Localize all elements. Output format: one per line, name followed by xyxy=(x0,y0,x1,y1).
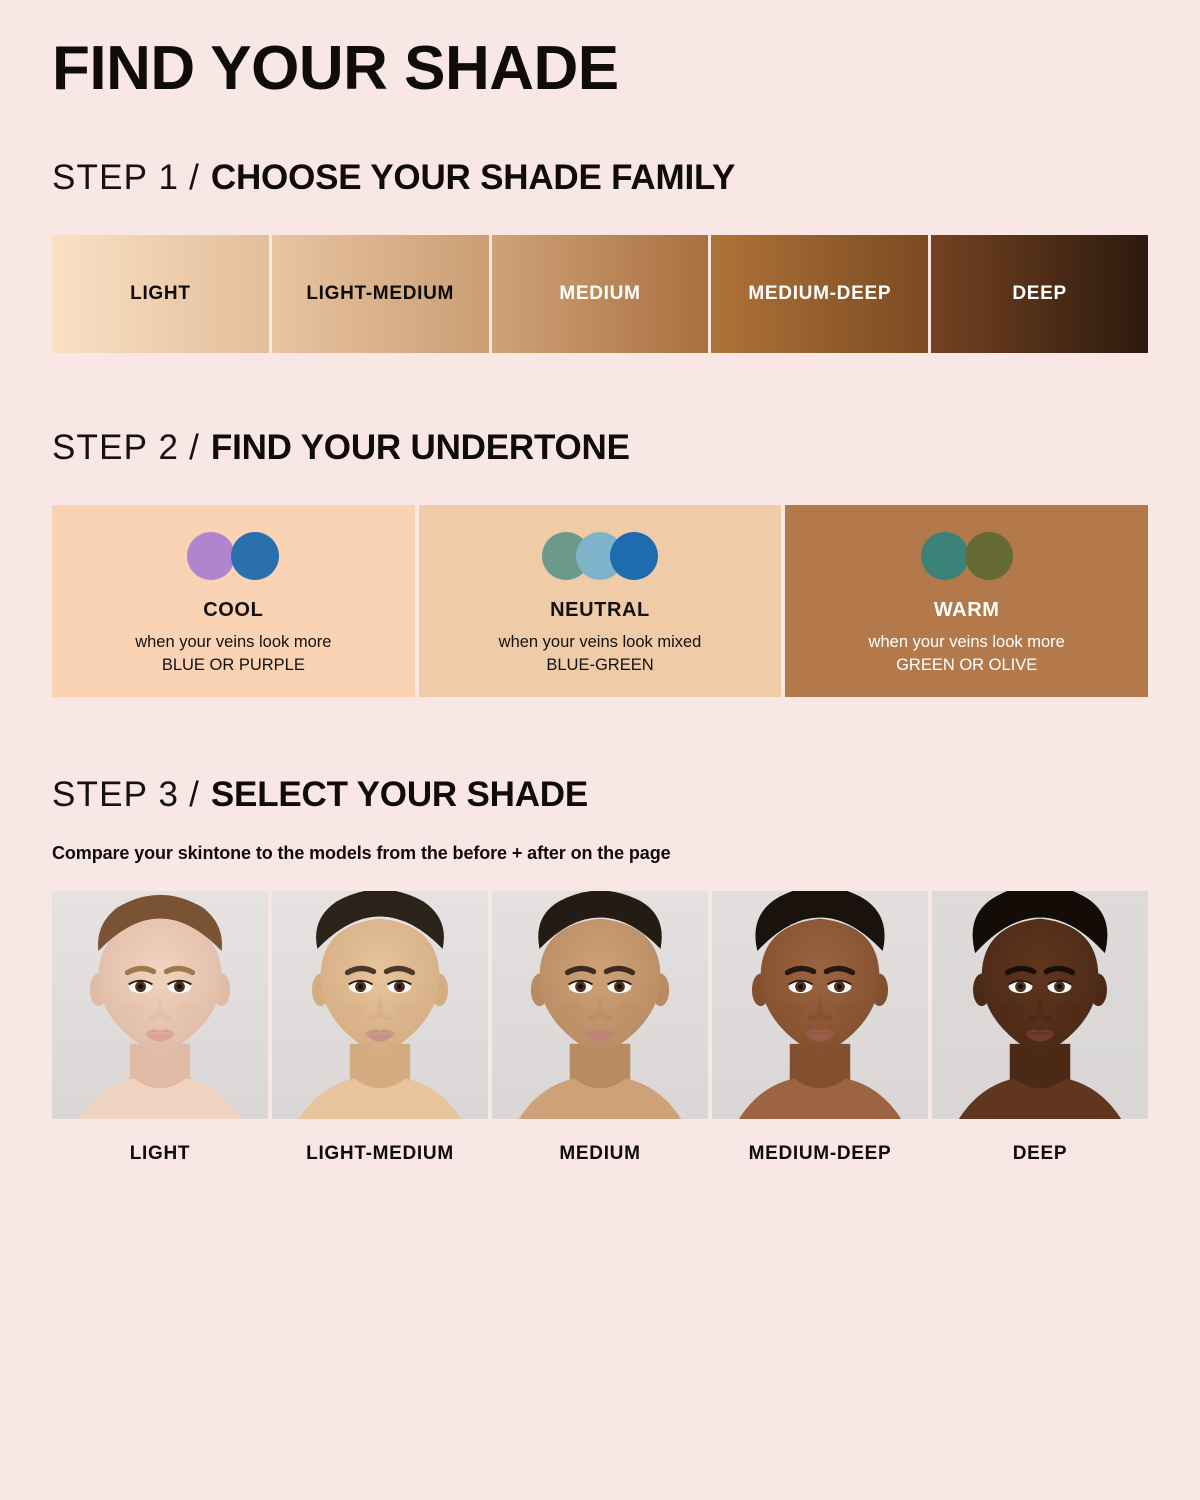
model-shade-option[interactable]: DEEP xyxy=(932,891,1148,1165)
undertone-color-dot xyxy=(921,532,969,580)
model-shade-gallery: LIGHTLIGHT-MEDIUMMEDIUMMEDIUM-DEEPDEEP xyxy=(52,891,1148,1165)
find-your-shade-page: FIND YOUR SHADE STEP 1 / CHOOSE YOUR SHA… xyxy=(0,0,1200,1500)
shade-family-swatch[interactable]: MEDIUM-DEEP xyxy=(711,235,928,353)
model-shade-label: DEEP xyxy=(1013,1143,1068,1165)
model-shade-option[interactable]: LIGHT-MEDIUM xyxy=(272,891,488,1165)
undertone-circles xyxy=(542,531,658,581)
undertone-description: when your veins look moreGREEN OR OLIVE xyxy=(869,631,1065,678)
model-portrait-photo[interactable] xyxy=(52,891,268,1119)
model-portrait-photo[interactable] xyxy=(932,891,1148,1119)
model-shade-label: LIGHT-MEDIUM xyxy=(306,1143,454,1165)
step-3-label: STEP 3 xyxy=(52,775,179,815)
undertone-name: WARM xyxy=(934,599,1000,622)
shade-family-swatch[interactable]: MEDIUM xyxy=(492,235,709,353)
undertone-description-line-1: when your veins look mixed xyxy=(499,631,702,654)
undertone-description-line-2: BLUE OR PURPLE xyxy=(135,654,331,677)
model-shade-label: MEDIUM-DEEP xyxy=(749,1143,892,1165)
step-3-title: SELECT YOUR SHADE xyxy=(211,775,588,815)
step-2-separator: / xyxy=(179,428,211,468)
model-shade-option[interactable]: MEDIUM xyxy=(492,891,708,1165)
shade-family-label: LIGHT-MEDIUM xyxy=(306,283,454,305)
shade-family-label: DEEP xyxy=(1012,283,1067,305)
model-shade-option[interactable]: LIGHT xyxy=(52,891,268,1165)
step-2-label: STEP 2 xyxy=(52,428,179,468)
undertone-panel-cool[interactable]: COOLwhen your veins look moreBLUE OR PUR… xyxy=(52,505,415,697)
model-shade-label: LIGHT xyxy=(130,1143,191,1165)
step-2-heading: STEP 2 / FIND YOUR UNDERTONE xyxy=(52,428,1148,468)
step-2-title: FIND YOUR UNDERTONE xyxy=(211,428,630,468)
undertone-color-dot xyxy=(187,532,235,580)
shade-family-swatch[interactable]: LIGHT-MEDIUM xyxy=(272,235,489,353)
undertone-color-dot xyxy=(231,532,279,580)
model-portrait-photo[interactable] xyxy=(492,891,708,1119)
undertone-circles xyxy=(921,531,1013,581)
undertone-panel-neutral[interactable]: NEUTRALwhen your veins look mixedBLUE-GR… xyxy=(419,505,782,697)
step-3-heading: STEP 3 / SELECT YOUR SHADE xyxy=(52,775,1148,815)
undertone-description: when your veins look moreBLUE OR PURPLE xyxy=(135,631,331,678)
undertone-description-line-1: when your veins look more xyxy=(869,631,1065,654)
undertone-color-dot xyxy=(965,532,1013,580)
step-1-label: STEP 1 xyxy=(52,158,179,198)
undertone-description-line-1: when your veins look more xyxy=(135,631,331,654)
undertone-description-line-2: GREEN OR OLIVE xyxy=(869,654,1065,677)
undertone-description-line-2: BLUE-GREEN xyxy=(499,654,702,677)
undertone-name: COOL xyxy=(203,599,263,622)
model-shade-label: MEDIUM xyxy=(559,1143,640,1165)
shade-family-label: LIGHT xyxy=(130,283,191,305)
step-1-heading: STEP 1 / CHOOSE YOUR SHADE FAMILY xyxy=(52,158,1148,198)
step-3-separator: / xyxy=(179,775,211,815)
shade-family-swatch[interactable]: LIGHT xyxy=(52,235,269,353)
undertone-panel-warm[interactable]: WARMwhen your veins look moreGREEN OR OL… xyxy=(785,505,1148,697)
shade-family-label: MEDIUM-DEEP xyxy=(748,283,891,305)
undertone-description: when your veins look mixedBLUE-GREEN xyxy=(499,631,702,678)
step-1-separator: / xyxy=(179,158,211,198)
model-portrait-photo[interactable] xyxy=(272,891,488,1119)
model-portrait-photo[interactable] xyxy=(712,891,928,1119)
step-1-title: CHOOSE YOUR SHADE FAMILY xyxy=(211,158,735,198)
undertone-panels: COOLwhen your veins look moreBLUE OR PUR… xyxy=(52,505,1148,697)
shade-family-swatch[interactable]: DEEP xyxy=(931,235,1148,353)
shade-family-label: MEDIUM xyxy=(559,283,640,305)
undertone-name: NEUTRAL xyxy=(550,599,650,622)
step-3-subtitle: Compare your skintone to the models from… xyxy=(52,843,1148,864)
undertone-color-dot xyxy=(610,532,658,580)
shade-family-bar: LIGHTLIGHT-MEDIUMMEDIUMMEDIUM-DEEPDEEP xyxy=(52,235,1148,353)
model-shade-option[interactable]: MEDIUM-DEEP xyxy=(712,891,928,1165)
undertone-circles xyxy=(187,531,279,581)
page-title: FIND YOUR SHADE xyxy=(52,0,1148,100)
